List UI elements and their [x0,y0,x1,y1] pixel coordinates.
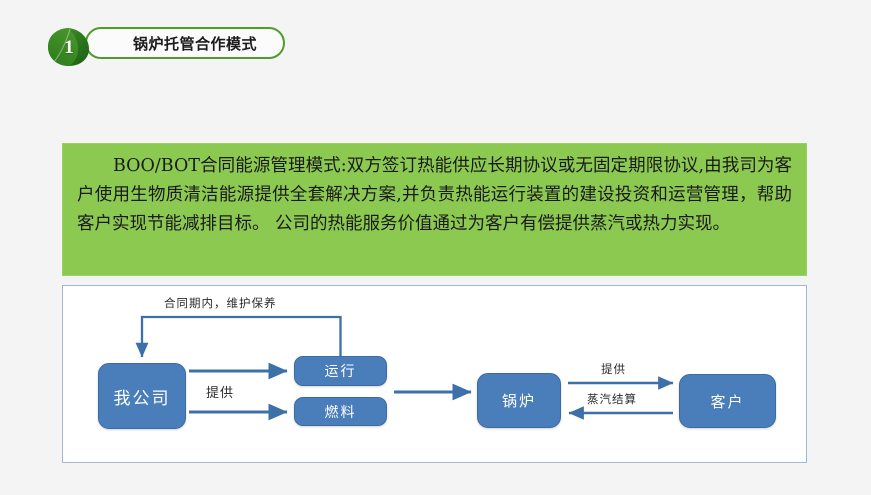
arrow-label-steam-settlement: 蒸汽结算 [587,391,637,407]
description-block: BOO/BOT合同能源管理模式:双方签订热能供应长期协议或无固定期限协议,由我司… [62,143,807,276]
arrow-label-supply-right: 提供 [601,361,626,377]
slide-canvas: 锅炉托管合作模式 1 [0,0,871,495]
diagram-node-company[interactable]: 我公司 [98,363,186,429]
connector-maintenance-loop [142,317,341,357]
arrow-label-maintenance: 合同期内，维护保养 [164,295,277,311]
diagram-node-operation[interactable]: 运行 [294,356,387,386]
leaf-badge: 1 [45,26,91,68]
diagram-node-fuel[interactable]: 燃料 [294,397,387,426]
leaf-number: 1 [45,26,91,68]
page-title: 锅炉托管合作模式 [133,33,257,54]
section-title-pill: 锅炉托管合作模式 [85,27,285,59]
arrow-label-supply-left: 提供 [206,382,234,401]
diagram-node-customer[interactable]: 客户 [679,374,776,428]
process-diagram: 我公司 运行 燃料 锅炉 客户 合同期内，维护保养 提供 提供 蒸汽结算 [63,286,806,462]
diagram-node-boiler[interactable]: 锅炉 [477,373,561,428]
description-text: BOO/BOT合同能源管理模式:双方签订热能供应长期协议或无固定期限协议,由我司… [77,152,792,239]
diagram-frame: 我公司 运行 燃料 锅炉 客户 合同期内，维护保养 提供 提供 蒸汽结算 [62,285,807,463]
